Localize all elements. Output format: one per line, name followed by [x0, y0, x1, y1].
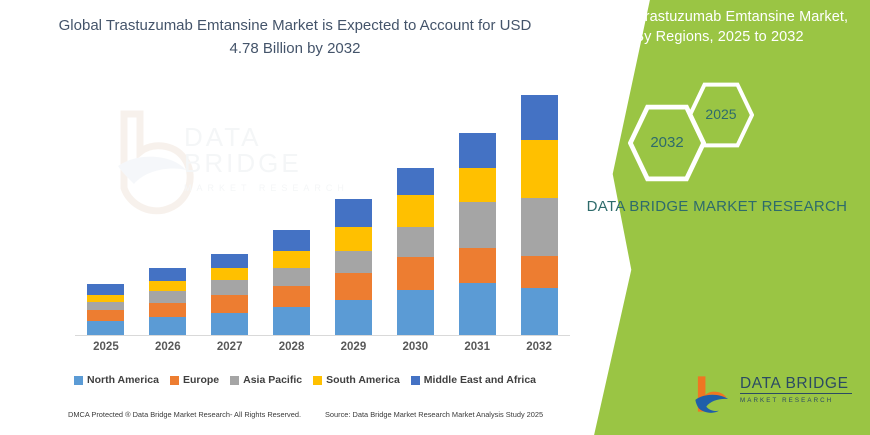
bar-segment — [211, 268, 248, 281]
x-axis-labels: 20252026202720282029203020312032 — [75, 341, 570, 361]
x-axis-label-2025: 2025 — [76, 341, 136, 353]
hexagon-end-label: 2032 — [650, 134, 683, 151]
bar-segment — [273, 268, 310, 286]
page-title: Global Trastuzumab Emtansine Market is E… — [55, 14, 535, 61]
chart-legend: North AmericaEuropeAsia PacificSouth Ame… — [55, 371, 555, 389]
footer-source: Source: Data Bridge Market Research Mark… — [325, 410, 543, 419]
footer: DMCA Protected ® Data Bridge Market Rese… — [0, 410, 600, 430]
legend-item[interactable]: Asia Pacific — [230, 374, 302, 386]
bar-segment — [273, 251, 310, 268]
bar-2025 — [87, 284, 124, 335]
x-axis-label-2027: 2027 — [200, 341, 260, 353]
bar-segment — [149, 268, 186, 281]
bar-segment — [459, 168, 496, 202]
legend-swatch-icon — [230, 376, 239, 385]
bar-segment — [87, 302, 124, 311]
bar-segment — [397, 168, 434, 195]
databridge-logo-icon — [692, 373, 734, 415]
bar-2031 — [459, 133, 496, 335]
bar-segment — [211, 280, 248, 295]
bar-2032 — [521, 95, 558, 335]
bar-segment — [273, 307, 310, 335]
legend-item[interactable]: South America — [313, 374, 400, 386]
bar-segment — [335, 199, 372, 227]
bar-segment — [397, 257, 434, 290]
bar-segment — [335, 251, 372, 273]
legend-swatch-icon — [74, 376, 83, 385]
hexagon-start-label: 2025 — [705, 106, 736, 122]
bar-segment — [459, 133, 496, 168]
legend-item[interactable]: Europe — [170, 374, 219, 386]
bar-segment — [211, 254, 248, 268]
bar-segment — [397, 195, 434, 227]
bar-segment — [87, 284, 124, 296]
bar-segment — [459, 202, 496, 248]
bar-segment — [211, 313, 248, 335]
legend-label: Asia Pacific — [243, 374, 302, 386]
bar-2030 — [397, 168, 434, 335]
legend-item[interactable]: North America — [74, 374, 159, 386]
hexagon-badges: 2025 2032 — [560, 82, 870, 187]
brand-logo: DATA BRIDGE MARKET RESEARCH — [692, 371, 852, 417]
bar-2029 — [335, 199, 372, 335]
legend-swatch-icon — [170, 376, 179, 385]
bar-segment — [459, 248, 496, 282]
x-axis-label-2029: 2029 — [323, 341, 383, 353]
legend-swatch-icon — [411, 376, 420, 385]
x-axis-label-2030: 2030 — [385, 341, 445, 353]
legend-item[interactable]: Middle East and Africa — [411, 374, 536, 386]
bar-plot — [75, 90, 570, 336]
bar-segment — [87, 321, 124, 335]
chart-panel: Global Trastuzumab Emtansine Market is E… — [0, 0, 600, 435]
bar-segment — [521, 140, 558, 198]
bar-segment — [149, 281, 186, 292]
bar-segment — [149, 317, 186, 335]
bar-segment — [273, 286, 310, 307]
bar-2028 — [273, 230, 310, 335]
bar-2026 — [149, 268, 186, 335]
bar-segment — [335, 300, 372, 335]
bar-segment — [521, 198, 558, 256]
legend-label: South America — [326, 374, 400, 386]
bar-segment — [273, 230, 310, 250]
bar-segment — [459, 283, 496, 335]
right-panel-content: Global Trastuzumab Emtansine Market, By … — [560, 0, 870, 435]
bar-segment — [335, 227, 372, 251]
x-axis-label-2028: 2028 — [262, 341, 322, 353]
bar-segment — [397, 290, 434, 335]
panel-title: Global Trastuzumab Emtansine Market, By … — [584, 8, 854, 47]
footer-copyright: DMCA Protected ® Data Bridge Market Rese… — [68, 410, 301, 419]
hexagon-badge-end: 2032 — [628, 104, 706, 180]
bar-segment — [211, 295, 248, 312]
bar-segment — [521, 95, 558, 140]
legend-swatch-icon — [313, 376, 322, 385]
bar-segment — [521, 288, 558, 335]
bar-segment — [397, 227, 434, 257]
bar-segment — [521, 256, 558, 288]
infographic-canvas: Global Trastuzumab Emtansine Market is E… — [0, 0, 870, 435]
logo-title: DATA BRIDGE — [740, 375, 852, 394]
x-axis-label-2026: 2026 — [138, 341, 198, 353]
logo-subtitle: MARKET RESEARCH — [740, 397, 852, 404]
x-axis-label-2031: 2031 — [447, 341, 507, 353]
legend-label: Europe — [183, 374, 219, 386]
bar-segment — [149, 303, 186, 317]
brand-name: DATA BRIDGE MARKET RESEARCH — [580, 196, 854, 219]
bar-segment — [87, 310, 124, 321]
bar-segment — [149, 291, 186, 303]
x-axis-line — [75, 335, 570, 336]
legend-label: North America — [87, 374, 159, 386]
bar-segment — [335, 273, 372, 300]
bar-2027 — [211, 254, 248, 335]
legend-label: Middle East and Africa — [424, 374, 536, 386]
